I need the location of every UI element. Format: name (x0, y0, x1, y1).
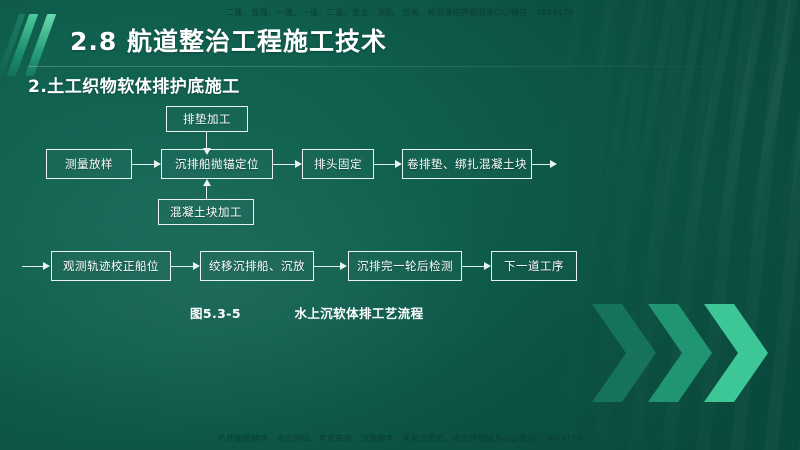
connector-anchor-to-head (273, 164, 297, 165)
flow-node-concrete-block-processing: 混凝土块加工 (158, 199, 254, 225)
arrowhead-right-winch (340, 262, 347, 270)
arrowhead-right-row2-entry (43, 262, 50, 270)
connector-track-to-winch (171, 266, 195, 267)
figure-caption: 图5.3-5 水上沉软体排工艺流程 (190, 303, 423, 322)
connector-winch-to-inspection (314, 266, 342, 267)
connector-row2-entry (22, 266, 45, 267)
arrowhead-right-roll-exit (550, 160, 557, 168)
figure-number: 图5.3-5 (190, 306, 241, 321)
connector-head-to-roll (374, 164, 397, 165)
flow-node-next-process: 下一道工序 (491, 251, 577, 281)
flow-node-roll-and-tie: 卷排垫、绑扎混凝土块 (402, 149, 532, 179)
connector-survey-to-anchor (132, 164, 156, 165)
flow-node-survey-setout: 测量放样 (46, 149, 132, 179)
bottom-promo-banner: 名师面授精华、央企内训、考点串讲、习题模考、考前三页纸、绝密押题联系QQ/微信：… (0, 433, 800, 444)
figure-title: 水上沉软体排工艺流程 (294, 306, 423, 321)
flow-node-winch-and-sink: 绞移沉排船、沉放 (200, 251, 314, 281)
flow-node-anchor-positioning: 沉排船抛锚定位 (161, 149, 273, 179)
connector-roll-exit (532, 164, 552, 165)
arrowhead-right-inspection (484, 262, 491, 270)
slide-canvas: 二建、监理、一建、一造、二造、安全、消防、咨询、检测课程押题联系QQ/微信：38… (0, 0, 800, 450)
arrowhead-up-concrete (203, 179, 211, 186)
arrowhead-right-head (395, 160, 402, 168)
arrowhead-right-survey (154, 160, 161, 168)
flow-node-pad-processing: 排垫加工 (166, 106, 248, 132)
flowchart: 排垫加工 测量放样 沉排船抛锚定位 混凝土块加工 排头固定 卷排垫、绑扎混凝土块… (0, 0, 800, 450)
connector-inspection-to-next (462, 266, 486, 267)
flow-node-track-correction: 观测轨迹校正船位 (51, 251, 171, 281)
flow-node-head-fixing: 排头固定 (302, 149, 374, 179)
arrowhead-right-track (193, 262, 200, 270)
flow-node-round-inspection: 沉排完一轮后检测 (348, 251, 462, 281)
arrowhead-right-anchor (295, 160, 302, 168)
